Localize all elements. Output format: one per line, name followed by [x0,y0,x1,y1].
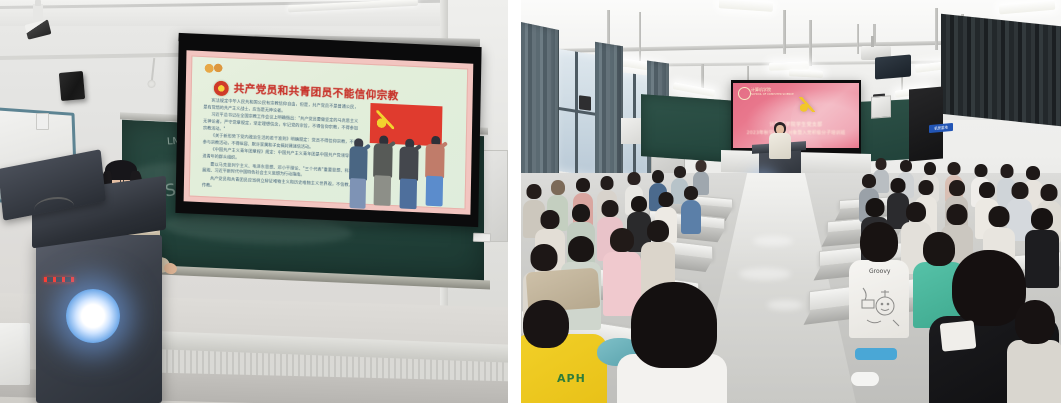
saluting-figure [348,138,367,211]
hammer-sickle-icon [376,110,394,129]
power-socket[interactable] [473,233,491,243]
security-camera-icon [33,4,43,26]
floor-reflection [739,268,791,280]
blackout-curtain[interactable] [941,14,1061,127]
ceiling-pipe [857,24,859,54]
panel-divider [508,0,521,403]
wall-monitor-icon [875,54,911,79]
decorative-ribbon-icon [197,60,227,77]
slide-illustration [346,100,460,215]
school-logo-icon: 计算机学院 SCHOOL OF COMPUTER SCIENCE [738,87,784,99]
slide-line-2: 2023年秋学期发展对象暨入党积极分子培训班 [733,130,859,136]
ceiling-pipe [809,20,812,66]
slide-body-text: 宪法规定中华人民共和国公民有宗教信仰自由，但是，共产党员不是普通公民，是有觉悟的… [202,97,359,196]
wall-speaker-left-icon [59,71,85,101]
status-led-icon [44,277,74,282]
wall-speaker-icon [579,95,591,110]
light-switch[interactable] [36,113,49,130]
sneaker [851,372,879,386]
stool-seat [855,348,897,360]
floor-reflection [753,236,793,246]
student-foreground [521,300,607,403]
student-foreground [1007,300,1061,403]
student-foreground [617,282,727,403]
slide-line-1: 计算机学院学生党支部 [733,121,859,128]
school-logo-subtext: SCHOOL OF COMPUTER SCIENCE [751,93,794,96]
saluting-figure [424,136,444,215]
cables [34,197,74,219]
ceiling-pipe [783,10,786,54]
party-emblem-icon [214,81,229,97]
presenter [769,122,791,160]
ceiling-pipe [639,12,641,64]
wall-control-panel[interactable] [871,95,891,118]
window-curtain[interactable] [595,42,623,192]
saluting-figure [372,135,392,212]
slide-canvas: 计算机学院 SCHOOL OF COMPUTER SCIENCE 计算机学院学生… [733,83,859,148]
left-photo-panel: LM E=0+12? SO 共产党员和共青团员不能信仰宗教 宪法规定中华人民共和… [0,0,508,403]
projection-screen: 共产党员和共青团员不能信仰宗教 宪法规定中华人民共和国公民有宗教信仰自由，但是，… [175,33,481,227]
side-table [0,323,30,385]
ceiling-pipe [935,8,938,50]
screenshot-root: LM E=0+12? SO 共产党员和共青团员不能信仰宗教 宪法规定中华人民共和… [0,0,1061,403]
school-logo-text: 计算机学院 [751,87,771,92]
hammer-sickle-icon [799,97,815,112]
paper-sheet [940,320,977,351]
floor-reflection [767,300,803,310]
lectern-light-glow [66,289,120,343]
lectern [36,235,162,403]
right-photo-panel: 机房重地 计算机学院 SCHOOL OF COMPUTER SCIENCE 计算… [521,0,1061,403]
saluting-figure [398,138,418,213]
groovy-tee-graphic-text: Groovy [869,268,890,275]
groovy-tee-doodle [857,276,903,332]
slide-frame: 共产党员和共青团员不能信仰宗教 宪法规定中华人民共和国公民有宗教信仰自由，但是，… [184,50,474,214]
student [681,186,701,232]
slide-canvas: 共产党员和共青团员不能信仰宗教 宪法规定中华人民共和国公民有宗教信仰自由，但是，… [189,55,469,209]
yellow-tee-text: APH [557,372,586,385]
